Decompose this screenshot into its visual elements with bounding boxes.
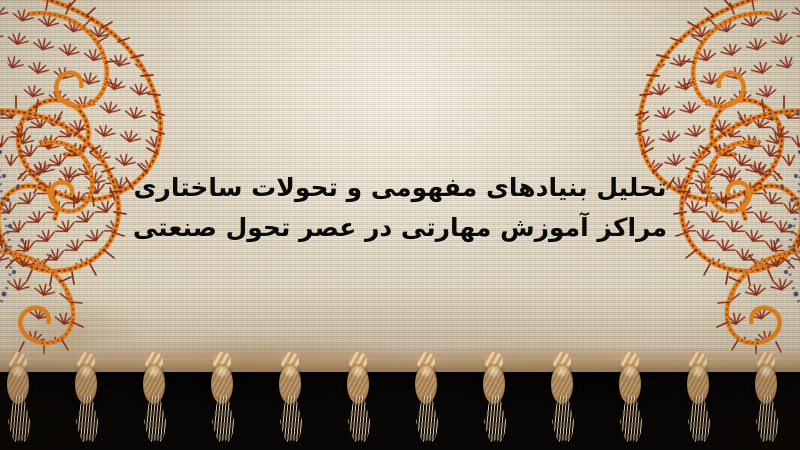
tassel	[678, 352, 718, 448]
tassel	[66, 352, 106, 448]
tassel	[474, 352, 514, 448]
textile-banner: تحلیل بنیادهای مفهومی و تحولات ساختاری م…	[0, 0, 800, 450]
title-line-2: مراکز آموزش مهارتی در عصر تحول صنعتی	[0, 208, 800, 248]
tassel	[406, 352, 446, 448]
tassel	[134, 352, 174, 448]
tassel	[0, 352, 38, 448]
tassel	[202, 352, 242, 448]
title-line-1: تحلیل بنیادهای مفهومی و تحولات ساختاری	[0, 168, 800, 208]
tassel	[338, 352, 378, 448]
tassel	[746, 352, 786, 448]
tassel	[610, 352, 650, 448]
page-title: تحلیل بنیادهای مفهومی و تحولات ساختاری م…	[0, 168, 800, 248]
tassel	[542, 352, 582, 448]
tassel	[270, 352, 310, 448]
knotted-tassel-fringe	[0, 352, 800, 450]
